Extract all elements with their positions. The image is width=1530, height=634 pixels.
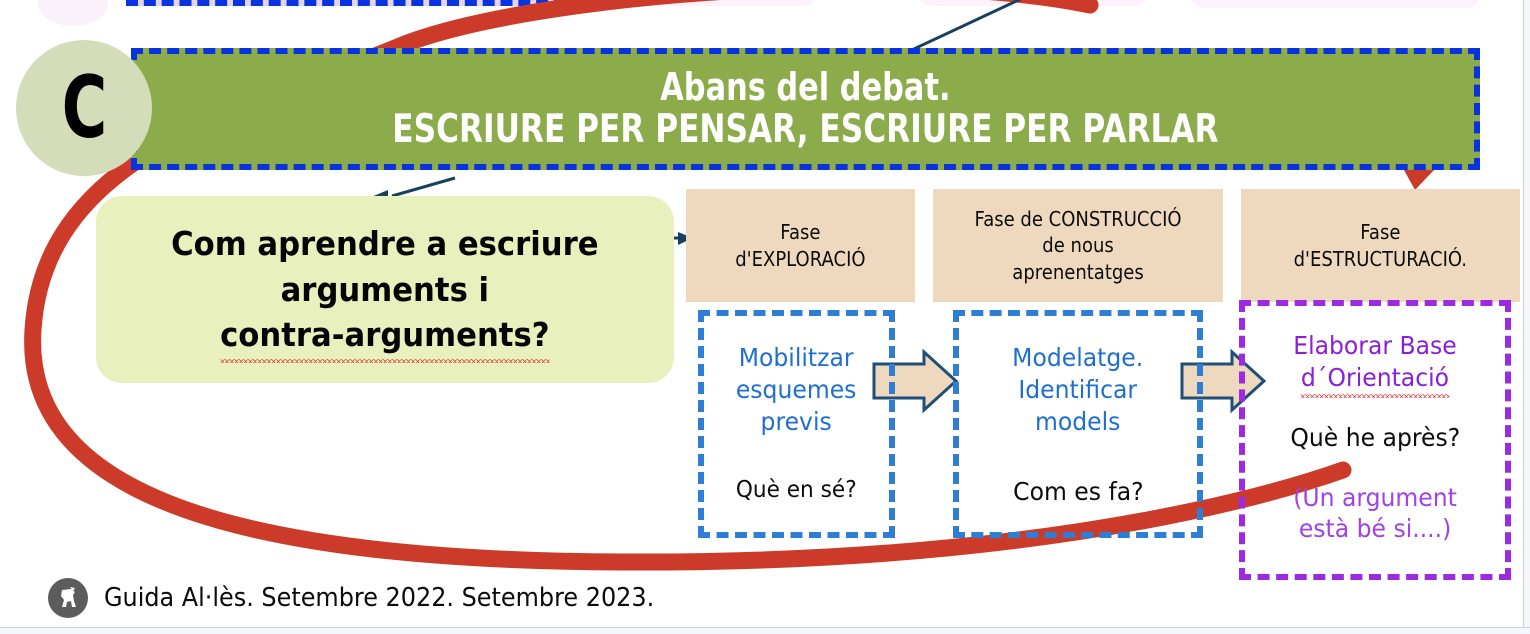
- activity-3-title: Elaborar Base d´Orientació: [1293, 330, 1457, 394]
- activity-3-question: Què he après?: [1290, 422, 1460, 454]
- cropped-blue-dashed-border: [126, 0, 566, 6]
- cropped-pink-box-b: [918, 0, 1148, 6]
- activity-2-title: Modelatge. Identificar models: [1012, 342, 1143, 438]
- activity-2-question: Com es fa?: [1013, 476, 1143, 508]
- activity-3-note-line1: (Un argument: [1293, 482, 1457, 514]
- activity-2-title-line3: models: [1012, 406, 1143, 438]
- activity-1-title-line2: esquemes: [736, 374, 857, 406]
- phase-box-construccio: Fase de CONSTRUCCIÓ de nous aprenentatge…: [933, 189, 1223, 302]
- activity-3-note-line2: està bé si....): [1293, 513, 1457, 545]
- banner-title-line2: ESCRIURE PER PENSAR, ESCRIURE PER PARLAR: [392, 108, 1218, 152]
- activity-2-title-line1: Modelatge.: [1012, 342, 1143, 374]
- activity-1-question: Què en sé?: [736, 476, 857, 505]
- activity-1-title-line1: Mobilitzar: [736, 342, 857, 374]
- phase-box-exploracio: Fase d'EXPLORACIÓ: [686, 189, 915, 302]
- horse-logo-icon: [48, 578, 88, 618]
- activity-1-title: Mobilitzar esquemes previs: [736, 342, 857, 438]
- footer-credit-text: Guida Al·lès. Setembre 2022. Setembre 20…: [104, 583, 654, 613]
- driving-question-line3: contra-arguments?: [220, 312, 549, 358]
- activity-1-title-line3: previs: [736, 406, 857, 438]
- phase-3-line2: d'ESTRUCTURACIÓ.: [1294, 246, 1467, 272]
- activity-box-mobilitzar: Mobilitzar esquemes previs Què en sé?: [698, 310, 895, 538]
- cropped-pink-box-a: [588, 0, 818, 6]
- activity-2-title-line2: Identificar: [1012, 374, 1143, 406]
- cropped-pink-box-c: [1190, 0, 1480, 8]
- cropped-pale-circle: [38, 0, 108, 26]
- phase-2-text: Fase de CONSTRUCCIÓ de nous aprenentatge…: [974, 206, 1181, 285]
- banner-title-block: Abans del debat. ESCRIURE PER PENSAR, ES…: [131, 48, 1480, 170]
- phase-1-line1: Fase: [735, 219, 865, 245]
- activity-box-base-orientacio: Elaborar Base d´Orientació Què he après?…: [1239, 300, 1511, 580]
- activity-3-note: (Un argument està bé si....): [1293, 482, 1457, 545]
- phase-1-text: Fase d'EXPLORACIÓ: [735, 219, 865, 272]
- phase-3-text: Fase d'ESTRUCTURACIÓ.: [1294, 219, 1467, 272]
- phase-2-line2: de nous: [974, 232, 1181, 258]
- phase-3-line1: Fase: [1294, 219, 1467, 245]
- section-badge-c: C: [16, 40, 152, 176]
- section-badge-letter: C: [62, 65, 107, 151]
- footer: Guida Al·lès. Setembre 2022. Setembre 20…: [48, 578, 702, 618]
- phase-1-line2: d'EXPLORACIÓ: [735, 246, 865, 272]
- phase-box-estructuracio: Fase d'ESTRUCTURACIÓ.: [1241, 189, 1520, 302]
- activity-3-title-line2: d´Orientació: [1301, 362, 1449, 394]
- driving-question-line1: Com aprendre a escriure: [171, 221, 598, 267]
- activity-box-modelatge: Modelatge. Identificar models Com es fa?: [953, 310, 1203, 538]
- slide-frame-bottom-edge: [0, 627, 1530, 634]
- driving-question-box: Com aprendre a escriure arguments i cont…: [96, 196, 674, 383]
- phase-2-line3: aprenentatges: [974, 259, 1181, 285]
- driving-question-line2: arguments i: [171, 267, 598, 313]
- slide-canvas: C Abans del debat. ESCRIURE PER PENSAR, …: [0, 0, 1530, 634]
- slide-frame-right-edge: [1523, 0, 1530, 634]
- driving-question-text: Com aprendre a escriure arguments i cont…: [171, 221, 598, 358]
- activity-3-title-line1: Elaborar Base: [1293, 330, 1457, 362]
- phase-2-line1: Fase de CONSTRUCCIÓ: [974, 206, 1181, 232]
- banner-title-line1: Abans del debat.: [660, 66, 950, 109]
